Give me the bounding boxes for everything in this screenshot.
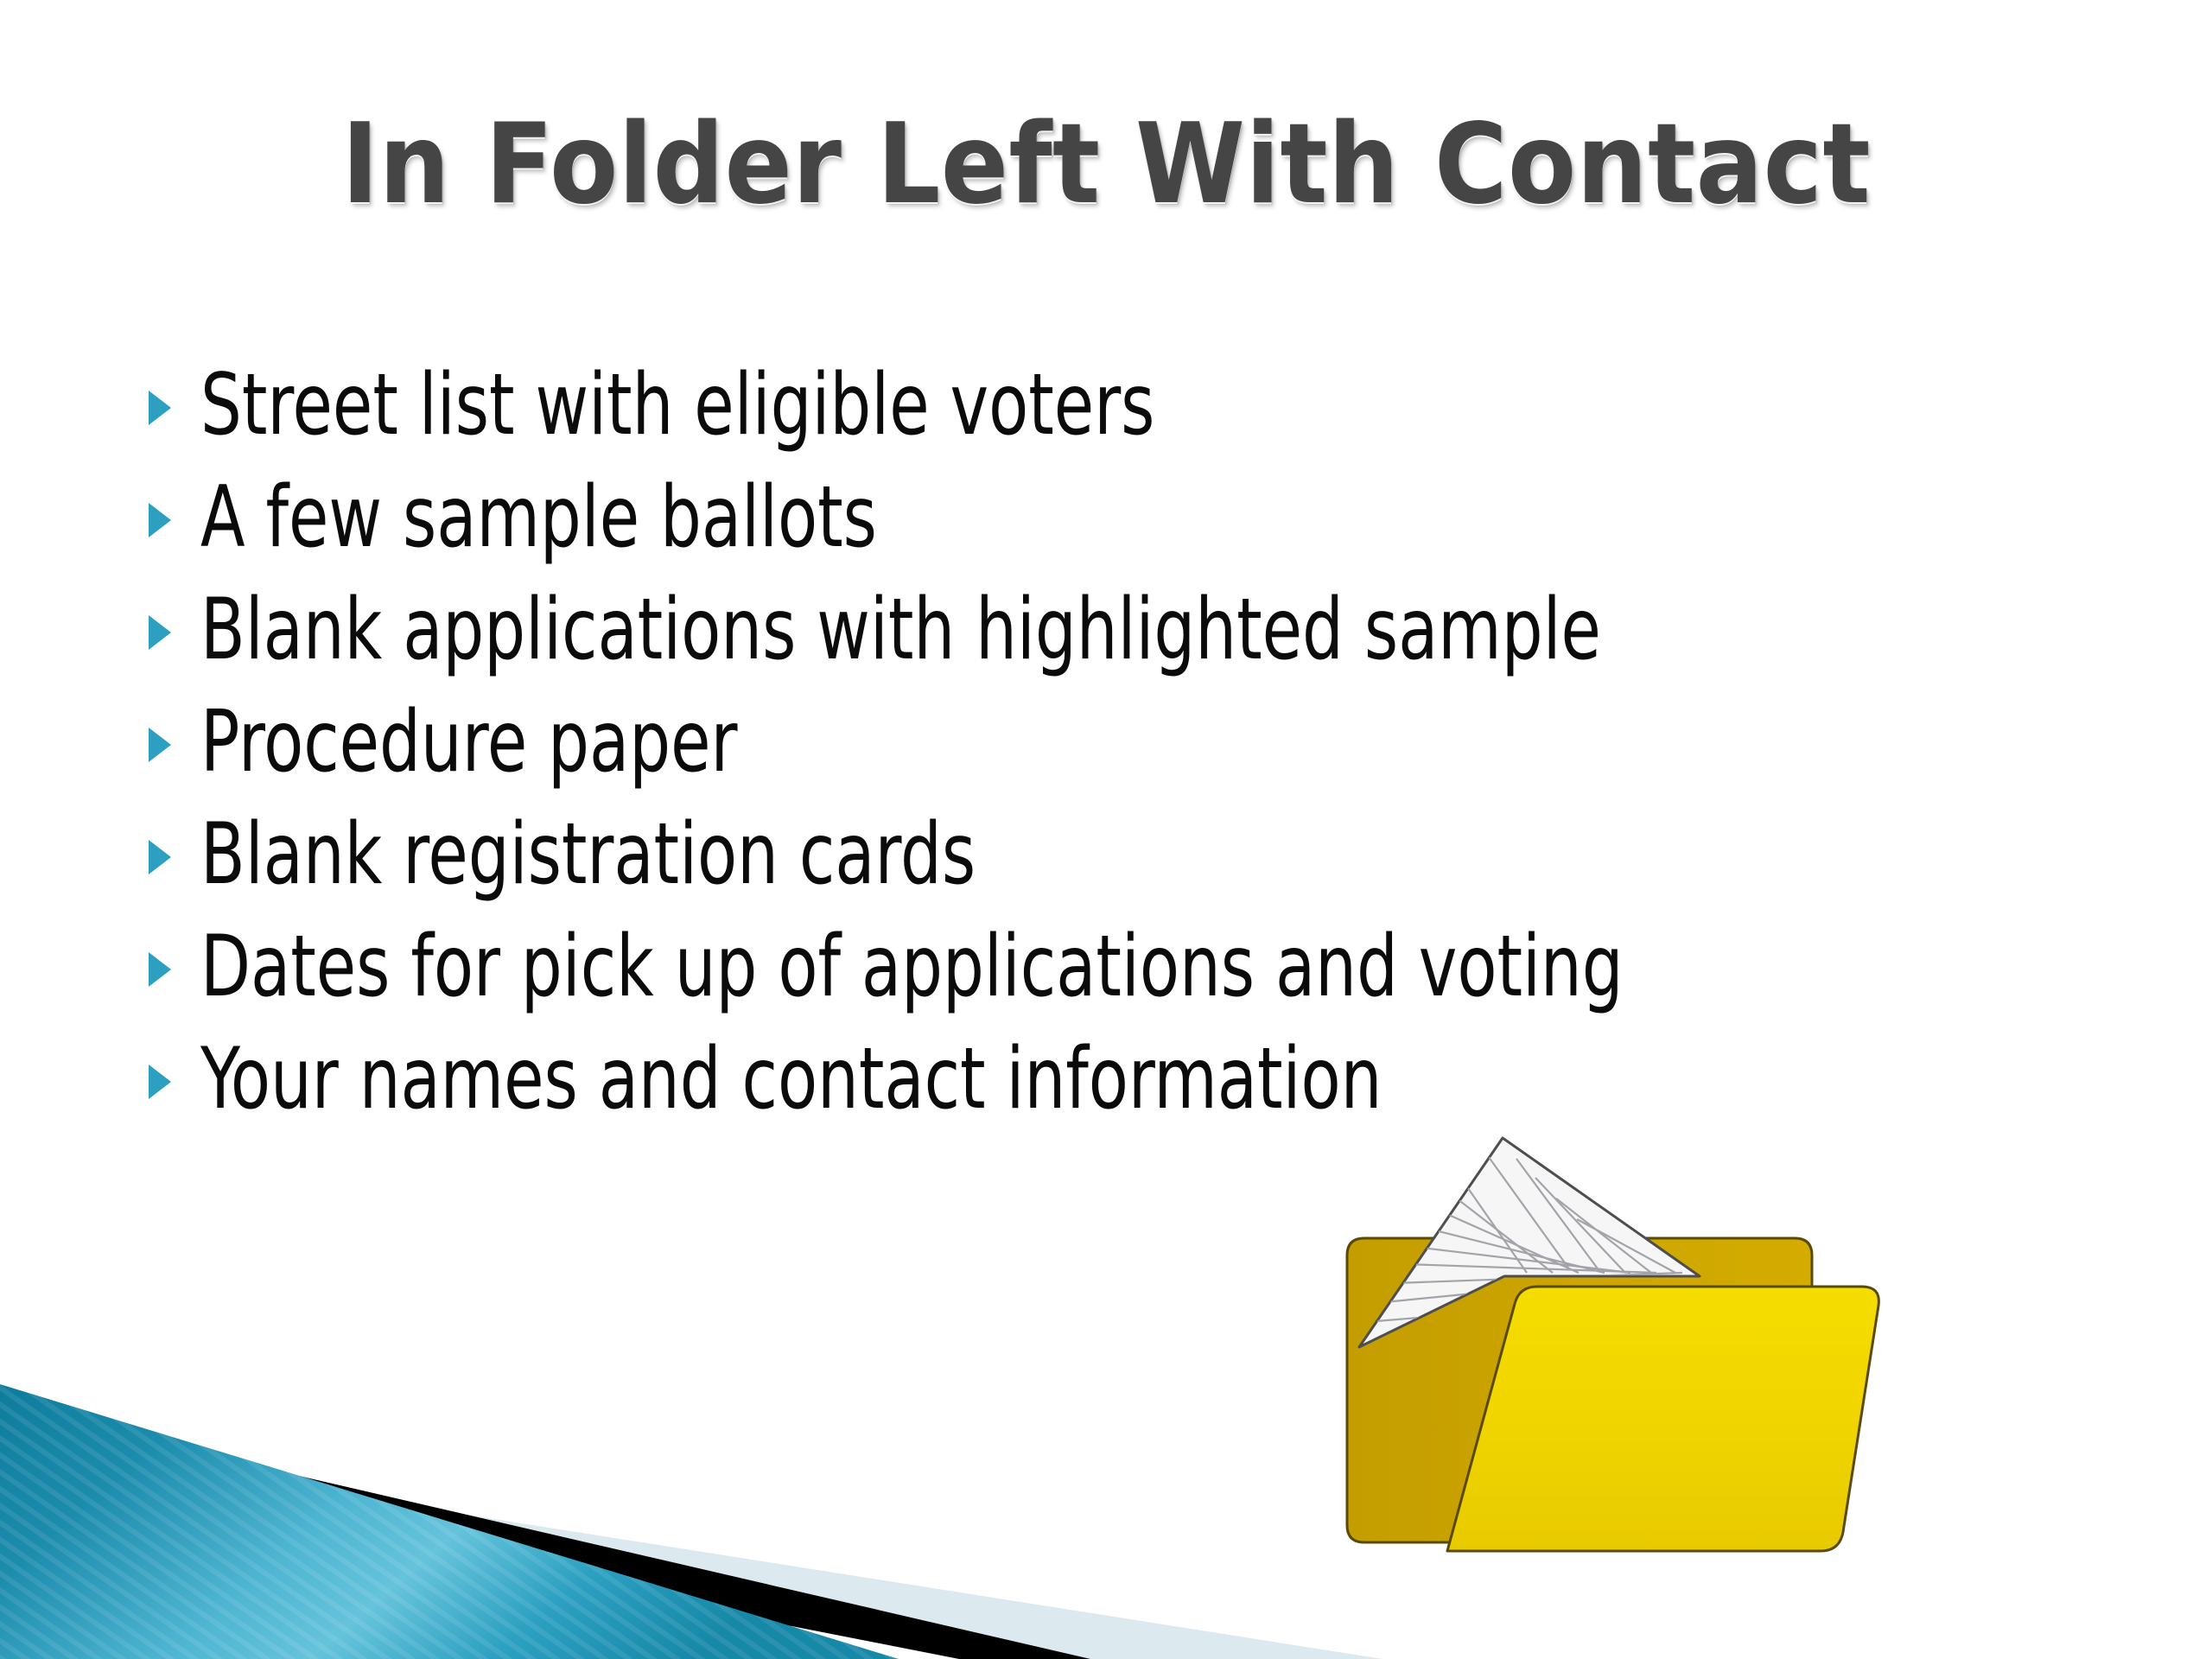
list-item-label: Dates for pick up of applications and vo… bbox=[200, 912, 1845, 1021]
slide-title-placeholder: In Folder Left With Contact bbox=[0, 105, 2212, 225]
list-item-label: Blank registration cards bbox=[200, 800, 1845, 909]
concourse-theme-corner-decoration bbox=[0, 1374, 1400, 1659]
list-item: Blank applications with highlighted samp… bbox=[145, 575, 2124, 688]
triangle-right-icon bbox=[145, 387, 176, 429]
triangle-right-icon bbox=[145, 949, 176, 990]
triangle-right-icon bbox=[145, 724, 176, 766]
presentation-slide: In Folder Left With Contact Street list … bbox=[0, 0, 2212, 1659]
black-diagonal-stripe bbox=[0, 1407, 1090, 1659]
list-item-label: Street list with eligible voters bbox=[200, 351, 1845, 460]
list-item-label: Blank applications with highlighted samp… bbox=[200, 575, 1845, 684]
list-item-label: Procedure paper bbox=[200, 688, 1845, 797]
triangle-right-icon bbox=[145, 836, 176, 878]
teal-gradient-wedge bbox=[0, 1384, 899, 1659]
folder-front-flap bbox=[1447, 1287, 1878, 1551]
open-folder-with-document-icon bbox=[1309, 1119, 1914, 1586]
page-title: In Folder Left With Contact bbox=[341, 105, 1871, 225]
triangle-right-icon bbox=[145, 612, 176, 653]
triangle-right-icon bbox=[145, 1061, 176, 1103]
list-item: Procedure paper bbox=[145, 688, 2124, 800]
slide-body-placeholder: Street list with eligible voters A few s… bbox=[145, 351, 2124, 1137]
list-item-label: A few sample ballots bbox=[200, 463, 1845, 572]
list-item: Dates for pick up of applications and vo… bbox=[145, 912, 2124, 1025]
list-item-label: Your names and contact information bbox=[200, 1025, 1845, 1134]
list-item: Blank registration cards bbox=[145, 800, 2124, 912]
list-item: A few sample ballots bbox=[145, 463, 2124, 575]
triangle-right-icon bbox=[145, 499, 176, 541]
pale-blue-band bbox=[0, 1441, 1382, 1659]
list-item: Street list with eligible voters bbox=[145, 351, 2124, 463]
